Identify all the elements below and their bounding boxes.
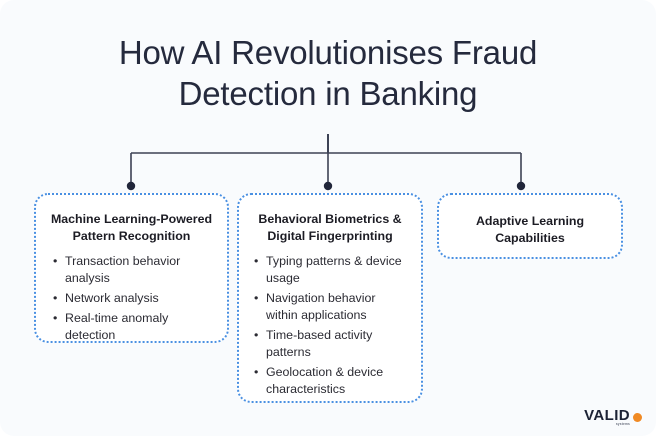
bullet-icon: • [254, 253, 258, 270]
list-item: • Network analysis [50, 290, 213, 307]
card-heading: Adaptive Learning Capabilities [451, 213, 609, 246]
valid-logo: VALID systems [584, 407, 642, 424]
bullet-icon: • [53, 253, 57, 270]
card-bullet-list: • Transaction behavior analysis • Networ… [50, 253, 213, 344]
connector-dot-center [324, 182, 332, 190]
logo-subtext: systems [616, 422, 630, 426]
bullet-icon: • [53, 290, 57, 307]
list-item-label: Real-time anomaly detection [65, 311, 168, 342]
connector-dot-left [127, 182, 135, 190]
connector-dot-right [517, 182, 525, 190]
list-item-label: Navigation behavior within applications [266, 291, 376, 322]
slide-canvas: How AI Revolutionises Fraud Detection in… [0, 0, 656, 436]
page-title: How AI Revolutionises Fraud Detection in… [48, 32, 608, 114]
logo-dot-icon [633, 413, 642, 422]
list-item: • Navigation behavior within application… [251, 290, 409, 324]
list-item: • Real-time anomaly detection [50, 310, 213, 344]
card-bullet-list: • Typing patterns & device usage • Navig… [251, 253, 409, 398]
list-item: • Typing patterns & device usage [251, 253, 409, 287]
list-item-label: Time-based activity patterns [266, 328, 372, 359]
list-item-label: Typing patterns & device usage [266, 254, 402, 285]
list-item-label: Network analysis [65, 291, 159, 305]
card-heading: Behavioral Biometrics & Digital Fingerpr… [251, 211, 409, 244]
card-adaptive-learning[interactable]: Adaptive Learning Capabilities [437, 193, 623, 259]
logo-wordmark: VALID systems [584, 407, 630, 424]
list-item-label: Geolocation & device characteristics [266, 365, 383, 396]
card-behavioral-biometrics[interactable]: Behavioral Biometrics & Digital Fingerpr… [237, 193, 423, 403]
list-item: • Time-based activity patterns [251, 327, 409, 361]
list-item-label: Transaction behavior analysis [65, 254, 180, 285]
list-item: • Transaction behavior analysis [50, 253, 213, 287]
bullet-icon: • [53, 310, 57, 327]
card-machine-learning[interactable]: Machine Learning-Powered Pattern Recogni… [34, 193, 229, 343]
card-heading: Machine Learning-Powered Pattern Recogni… [50, 211, 213, 244]
bullet-icon: • [254, 364, 258, 381]
bullet-icon: • [254, 290, 258, 307]
list-item: • Geolocation & device characteristics [251, 364, 409, 398]
bullet-icon: • [254, 327, 258, 344]
